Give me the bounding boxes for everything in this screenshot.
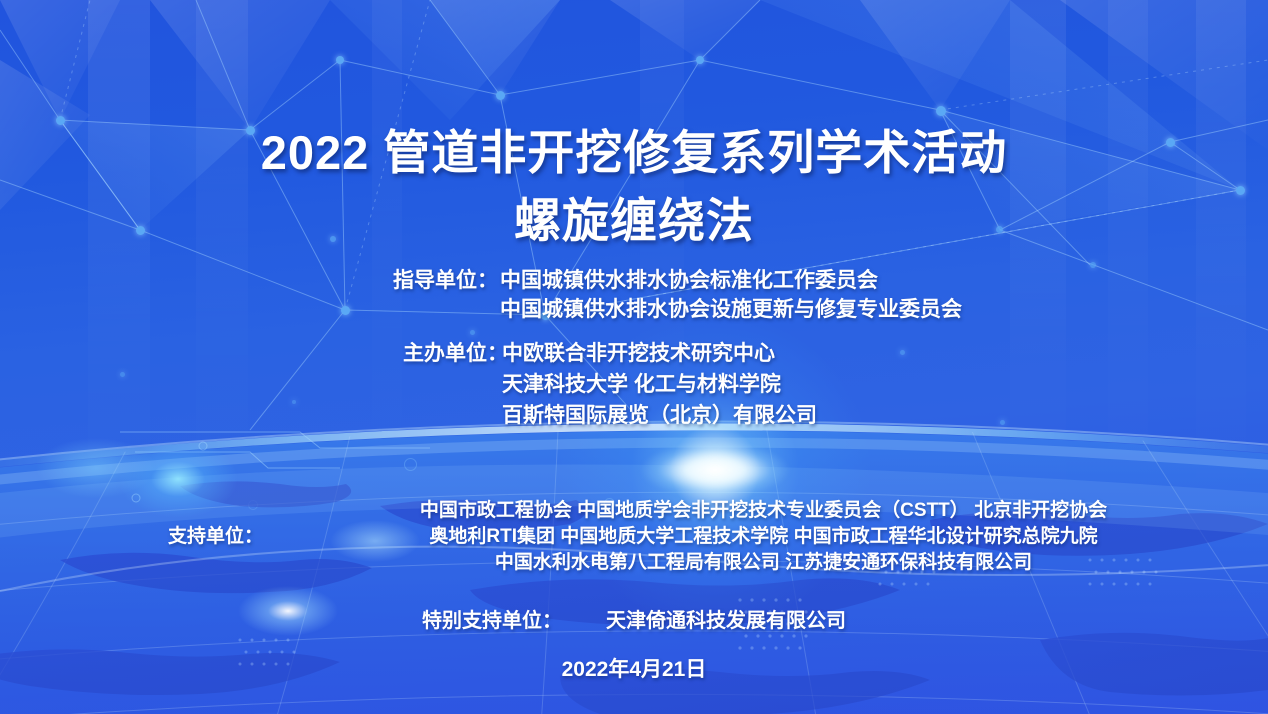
support-units-label: 支持单位： [168,498,276,550]
support-unit-item: 中国水利水电第八工程局有限公司 江苏捷安通环保科技有限公司 [276,550,1251,576]
poster-content: 2022 管道非开挖修复系列学术活动 螺旋缠绕法 指导单位： 中国城镇供水排水协… [0,0,1268,714]
host-units-label: 主办单位： [403,338,498,369]
guidance-unit-item: 中国城镇供水排水协会设施更新与修复专业委员会 [500,295,962,324]
host-unit-item: 中欧联合非开挖技术研究中心 [502,338,817,369]
guidance-units-values: 中国城镇供水排水协会标准化工作委员会 中国城镇供水排水协会设施更新与修复专业委员… [500,266,962,324]
event-date: 2022年4月21日 [0,653,1268,683]
support-units-values: 中国市政工程协会 中国地质学会非开挖技术专业委员会（CSTT） 北京非开挖协会 … [276,498,1251,576]
special-support-label: 特别支持单位： [422,610,562,632]
guidance-unit-item: 中国城镇供水排水协会标准化工作委员会 [500,266,962,295]
special-support-value: 天津倚通科技发展有限公司 [606,610,846,632]
support-units-block: 支持单位： 中国市政工程协会 中国地质学会非开挖技术专业委员会（CSTT） 北京… [168,498,1251,576]
guidance-units-block: 指导单位： 中国城镇供水排水协会标准化工作委员会 中国城镇供水排水协会设施更新与… [374,266,962,324]
support-unit-item: 奥地利RTI集团 中国地质大学工程技术学院 中国市政工程华北设计研究总院九院 [276,524,1251,550]
special-support-block: 特别支持单位：天津倚通科技发展有限公司 [0,604,1268,633]
host-units-values: 中欧联合非开挖技术研究中心 天津科技大学 化工与材料学院 百斯特国际展览（北京）… [502,338,817,431]
guidance-units-label: 指导单位： [374,266,498,295]
host-unit-item: 百斯特国际展览（北京）有限公司 [502,400,817,431]
page-title-line1: 2022 管道非开挖修复系列学术活动 [0,114,1268,183]
event-poster: 2022 管道非开挖修复系列学术活动 螺旋缠绕法 指导单位： 中国城镇供水排水协… [0,0,1268,714]
host-units-block: 主办单位： 中欧联合非开挖技术研究中心 天津科技大学 化工与材料学院 百斯特国际… [403,338,817,431]
page-title-line2: 螺旋缠绕法 [0,182,1268,251]
support-unit-item: 中国市政工程协会 中国地质学会非开挖技术专业委员会（CSTT） 北京非开挖协会 [276,498,1251,524]
host-unit-item: 天津科技大学 化工与材料学院 [502,369,817,400]
